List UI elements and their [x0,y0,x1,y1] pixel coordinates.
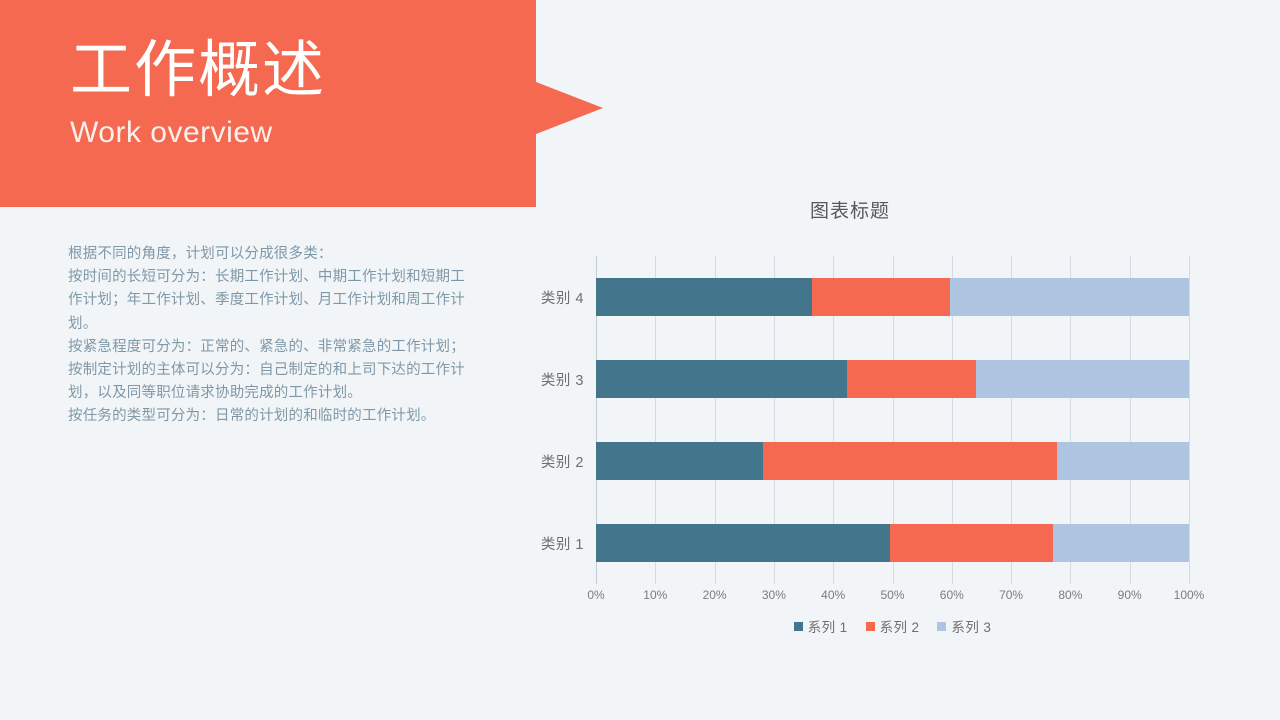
chart-legend-item[interactable]: 系列 1 [794,616,848,636]
chart-bar-segment[interactable] [847,360,976,398]
chart-bar-类别-2[interactable] [596,442,1189,480]
chart-plot-area [596,256,1189,584]
chart-bar-segment[interactable] [1057,442,1189,480]
chart-y-tick-label: 类别 3 [504,369,584,390]
chart-x-tick-label: 60% [940,588,964,602]
chart-x-tick-label: 100% [1174,588,1205,602]
chart-bar-segment[interactable] [950,278,1189,316]
legend-label: 系列 3 [951,616,991,636]
chart-x-tick-label: 30% [762,588,786,602]
chart-legend: 系列 1系列 2系列 3 [596,616,1189,636]
chart-bar-类别-4[interactable] [596,278,1189,316]
legend-label: 系列 2 [880,616,920,636]
legend-label: 系列 1 [808,616,848,636]
chart-x-axis-labels: 0%10%20%30%40%50%60%70%80%90%100% [596,588,1189,608]
chart-x-tick-label: 40% [821,588,845,602]
chart-bar-segment[interactable] [596,278,812,316]
chart-x-tick-label: 20% [703,588,727,602]
chart-legend-item[interactable]: 系列 3 [937,616,991,636]
chart-title: 图表标题 [500,196,1200,223]
legend-swatch-icon [794,622,803,631]
chart-bar-segment[interactable] [596,360,847,398]
chart-gridline [1189,256,1190,584]
chart-bar-segment[interactable] [596,524,890,562]
header-banner: 工作概述 Work overview [0,0,536,207]
chart-bar-类别-3[interactable] [596,360,1189,398]
chart-x-tick-label: 70% [999,588,1023,602]
body-paragraph-1: 根据不同的角度，计划可以分成很多类： [68,243,476,266]
chart-x-tick-label: 80% [1058,588,1082,602]
chart-bar-segment[interactable] [1053,524,1189,562]
legend-swatch-icon [866,622,875,631]
title-block: 工作概述 Work overview [70,34,510,152]
chart-x-tick-label: 0% [587,588,604,602]
body-paragraph-2: 按时间的长短可分为：长期工作计划、中期工作计划和短期工作计划；年工作计划、季度工… [68,266,476,336]
chart-bar-segment[interactable] [763,442,1057,480]
chart-x-tick-label: 90% [1118,588,1142,602]
page-title: 工作概述 [70,34,510,108]
chart-x-tick-label: 50% [880,588,904,602]
chart-legend-item[interactable]: 系列 2 [866,616,920,636]
chart-y-tick-label: 类别 1 [504,533,584,554]
chart-bar-segment[interactable] [976,360,1189,398]
chart-y-axis-labels: 类别 4类别 3类别 2类别 1 [500,256,584,584]
body-copy: 根据不同的角度，计划可以分成很多类： 按时间的长短可分为：长期工作计划、中期工作… [68,243,476,429]
chart-x-tick-label: 10% [643,588,667,602]
legend-swatch-icon [937,622,946,631]
body-paragraph-3: 按紧急程度可分为：正常的、紧急的、非常紧急的工作计划； [68,336,476,359]
chart-bar-segment[interactable] [596,442,763,480]
stacked-bar-chart: 图表标题 类别 4类别 3类别 2类别 1 0%10%20%30%40%50%6… [500,196,1220,646]
chart-y-tick-label: 类别 2 [504,451,584,472]
chart-bar-segment[interactable] [812,278,950,316]
chart-y-tick-label: 类别 4 [504,287,584,308]
chart-bar-segment[interactable] [890,524,1053,562]
body-paragraph-4: 按制定计划的主体可以分为：自己制定的和上司下达的工作计划，以及同等职位请求协助完… [68,359,476,405]
chart-bar-类别-1[interactable] [596,524,1189,562]
page-subtitle: Work overview [70,114,510,152]
body-paragraph-5: 按任务的类型可分为：日常的计划的和临时的工作计划。 [68,405,476,428]
banner-arrow-pointer [536,82,603,134]
